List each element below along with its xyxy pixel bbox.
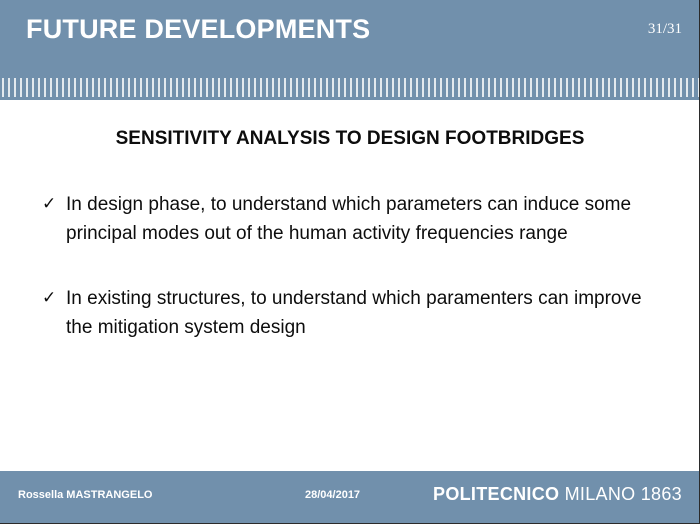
slide-header: FUTURE DEVELOPMENTS 31/31: [0, 0, 700, 100]
list-item-text: In design phase, to understand which par…: [66, 190, 656, 248]
footer-author: Rossella MASTRANGELO: [18, 489, 152, 501]
page-title: FUTURE DEVELOPMENTS: [26, 14, 370, 45]
institution-logo-secondary: MILANO 1863: [559, 484, 682, 504]
list-item: ✓ In existing structures, to understand …: [42, 284, 656, 342]
slide-footer: Rossella MASTRANGELO 28/04/2017 POLITECN…: [0, 471, 700, 524]
checkmark-icon: ✓: [42, 190, 66, 219]
institution-logo-primary: POLITECNICO: [433, 484, 559, 504]
slide-body: SENSITIVITY ANALYSIS TO DESIGN FOOTBRIDG…: [0, 100, 700, 471]
footer-date: 28/04/2017: [305, 489, 360, 501]
list-item: ✓ In design phase, to understand which p…: [42, 190, 656, 248]
institution-logo: POLITECNICO MILANO 1863: [433, 484, 682, 505]
ruler-ticks-icon: [0, 78, 700, 97]
slide-number-indicator: 31/31: [648, 21, 682, 38]
list-item-text: In existing structures, to understand wh…: [66, 284, 656, 342]
presentation-slide: FUTURE DEVELOPMENTS 31/31 SENSITIVITY AN…: [0, 0, 700, 524]
bullet-list: ✓ In design phase, to understand which p…: [42, 190, 656, 378]
section-heading: SENSITIVITY ANALYSIS TO DESIGN FOOTBRIDG…: [0, 128, 700, 150]
checkmark-icon: ✓: [42, 284, 66, 313]
